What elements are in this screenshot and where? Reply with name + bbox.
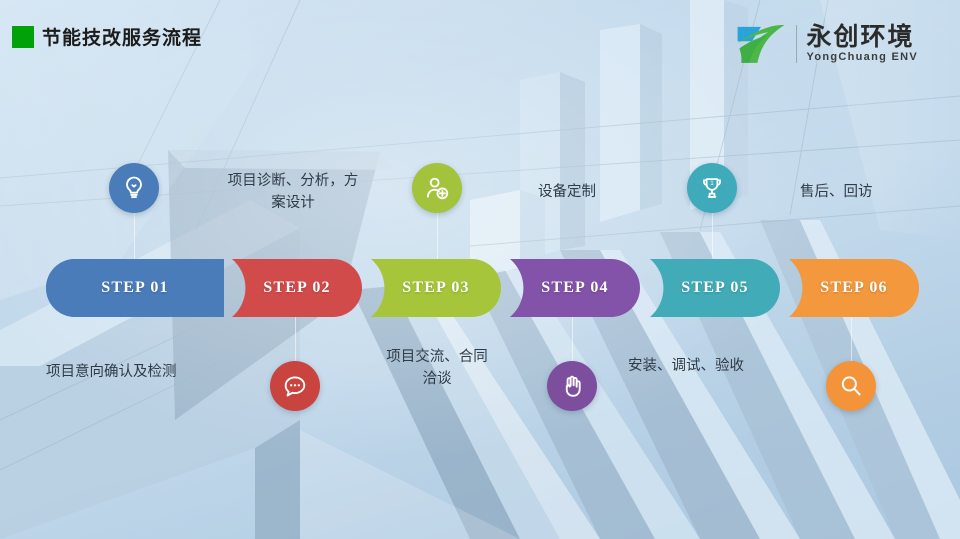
step-05-icon-bubble[interactable]: 1 — [687, 163, 737, 213]
lightbulb-icon — [120, 174, 148, 202]
connector-step-04 — [572, 315, 573, 361]
step-01-icon-bubble[interactable] — [109, 163, 159, 213]
process-flow: STEP 01 STEP 02 STEP 03 STEP 04 — [0, 0, 960, 539]
hand-icon — [558, 372, 586, 400]
step-03-caption: 项目交流、合同 洽谈 — [352, 346, 522, 391]
trophy-icon: 1 — [698, 174, 726, 202]
step-02-caption: 项目诊断、分析，方 案设计 — [198, 170, 388, 215]
chat-bubble-icon — [281, 372, 309, 400]
step-05-button[interactable]: STEP 05 — [650, 259, 780, 317]
svg-text:1: 1 — [710, 180, 714, 187]
step-04-label: STEP 04 — [541, 279, 609, 297]
step-04-caption: 设备定制 — [538, 181, 678, 203]
connector-step-03 — [437, 205, 438, 261]
connector-step-05 — [712, 205, 713, 261]
step-02-icon-bubble[interactable] — [270, 361, 320, 411]
connector-step-02 — [295, 315, 296, 361]
step-06-caption: 售后、回访 — [800, 181, 940, 203]
step-03-icon-bubble[interactable] — [412, 163, 462, 213]
step-01-button[interactable]: STEP 01 — [46, 259, 224, 317]
step-01-label: STEP 01 — [101, 279, 169, 297]
slide-canvas: 节能技改服务流程 永创环境 YongChuang ENV — [0, 0, 960, 539]
step-06-icon-bubble[interactable] — [826, 361, 876, 411]
step-04-button[interactable]: STEP 04 — [510, 259, 640, 317]
user-add-icon — [423, 174, 451, 202]
step-06-button[interactable]: STEP 06 — [789, 259, 919, 317]
step-03-button[interactable]: STEP 03 — [371, 259, 501, 317]
step-01-caption: 项目意向确认及检测 — [46, 361, 246, 383]
step-06-label: STEP 06 — [820, 279, 888, 297]
step-04-icon-bubble[interactable] — [547, 361, 597, 411]
magnifier-icon — [837, 372, 865, 400]
step-02-label: STEP 02 — [263, 279, 331, 297]
step-05-caption: 安装、调试、验收 — [628, 355, 808, 377]
step-02-button[interactable]: STEP 02 — [232, 259, 362, 317]
step-05-label: STEP 05 — [681, 279, 749, 297]
step-03-label: STEP 03 — [402, 279, 470, 297]
connector-step-01 — [134, 205, 135, 261]
connector-step-06 — [851, 315, 852, 361]
